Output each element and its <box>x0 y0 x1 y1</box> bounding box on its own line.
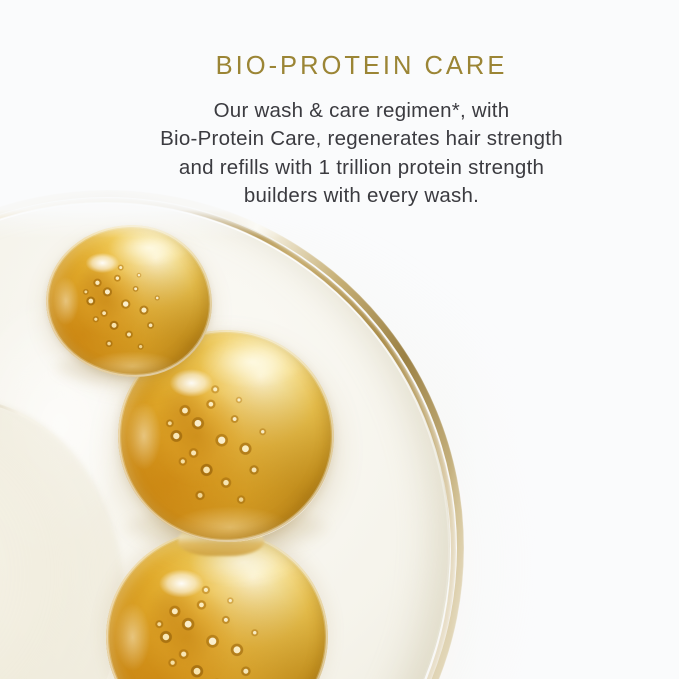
body-line-3: and refills with 1 trillion protein stre… <box>44 154 679 182</box>
gold-sphere-top <box>46 225 212 377</box>
body-line-4: builders with every wash. <box>44 182 679 210</box>
advertisement-card: BIO-PROTEIN CARE Our wash & care regimen… <box>0 0 679 679</box>
body-copy: Our wash & care regimen*, with Bio-Prote… <box>0 97 679 210</box>
body-line-2: Bio-Protein Care, regenerates hair stren… <box>44 125 679 153</box>
glass-rim-light <box>46 225 212 377</box>
body-line-1: Our wash & care regimen*, with <box>44 97 679 125</box>
copy-block: BIO-PROTEIN CARE Our wash & care regimen… <box>0 52 679 210</box>
page-title: BIO-PROTEIN CARE <box>0 52 679 80</box>
